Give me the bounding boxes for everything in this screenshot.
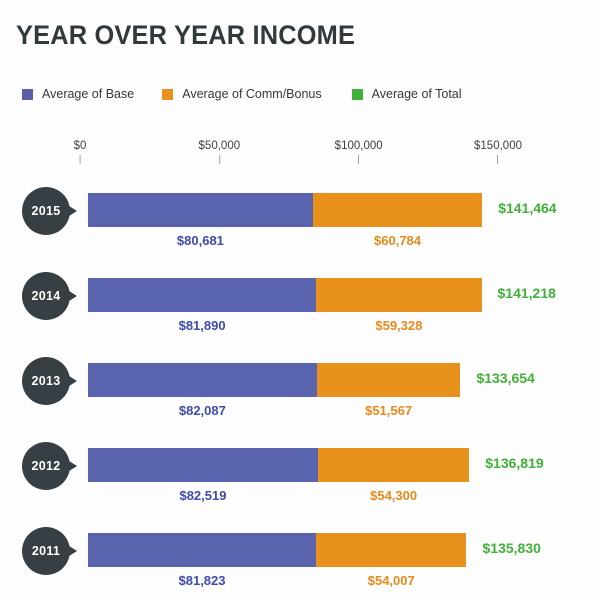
legend-item-comm-bonus[interactable]: Average of Comm/Bonus (162, 87, 321, 101)
year-badge[interactable]: 2012 (22, 442, 70, 490)
bar-segment-comm-bonus[interactable] (316, 533, 466, 567)
bar-segment-comm-bonus[interactable] (317, 363, 461, 397)
year-badge[interactable]: 2015 (22, 187, 70, 235)
bar-segment-comm-bonus[interactable] (313, 193, 482, 227)
legend-item-base[interactable]: Average of Base (22, 87, 134, 101)
chart-root: YEAR OVER YEAR INCOME Average of Base Av… (0, 0, 600, 600)
bar-value-total: $136,819 (485, 455, 543, 471)
year-label: 2013 (31, 374, 60, 388)
bar-track (88, 533, 467, 567)
bar-value-base: $82,087 (179, 403, 226, 418)
axis-tick-label: $50,000 (199, 140, 241, 152)
bar-value-comm-bonus: $54,007 (368, 573, 415, 588)
legend-label-comm-bonus: Average of Comm/Bonus (182, 87, 321, 101)
year-badge[interactable]: 2013 (22, 357, 70, 405)
year-label: 2012 (31, 459, 60, 473)
bar-segment-base[interactable] (88, 533, 316, 567)
axis-tick-mark (79, 155, 80, 164)
axis-tick-label: $150,000 (474, 140, 522, 152)
bar-value-comm-bonus: $51,567 (365, 403, 412, 418)
axis-tick-label: $0 (74, 140, 87, 152)
chart-row: 2015$80,681$60,784$141,464 (0, 183, 600, 255)
axis-tick: $0 (74, 140, 87, 164)
legend-label-total: Average of Total (372, 87, 462, 101)
bar-segment-comm-bonus[interactable] (316, 278, 481, 312)
chart-row: 2013$82,087$51,567$133,654 (0, 353, 600, 425)
axis-tick-mark (358, 155, 359, 164)
bar-track (88, 193, 482, 227)
legend-swatch-base-icon (22, 89, 33, 100)
bar-value-base: $81,823 (179, 573, 226, 588)
bar-segment-base[interactable] (88, 193, 313, 227)
bar-value-total: $141,464 (498, 200, 556, 216)
axis-tick-mark (498, 155, 499, 164)
chart-row: 2012$82,519$54,300$136,819 (0, 438, 600, 510)
chart-row: 2011$81,823$54,007$135,830 (0, 523, 600, 595)
chart-title: YEAR OVER YEAR INCOME (16, 20, 355, 51)
bar-segment-base[interactable] (88, 363, 317, 397)
bar-track (88, 363, 460, 397)
bar-value-comm-bonus: $54,300 (370, 488, 417, 503)
bar-track (88, 278, 482, 312)
axis-tick: $100,000 (335, 140, 383, 164)
year-badge[interactable]: 2014 (22, 272, 70, 320)
x-axis: $0$50,000$100,000$150,000 (0, 140, 600, 170)
bar-value-comm-bonus: $60,784 (374, 233, 421, 248)
axis-tick-mark (219, 155, 220, 164)
bar-track (88, 448, 469, 482)
bar-value-total: $133,654 (476, 370, 534, 386)
bar-value-comm-bonus: $59,328 (375, 318, 422, 333)
chart-legend: Average of Base Average of Comm/Bonus Av… (22, 86, 462, 102)
legend-swatch-comm-bonus-icon (162, 89, 173, 100)
axis-tick-label: $100,000 (335, 140, 383, 152)
year-label: 2014 (31, 289, 60, 303)
bar-value-total: $135,830 (483, 540, 541, 556)
legend-item-total[interactable]: Average of Total (352, 87, 462, 101)
axis-tick: $150,000 (474, 140, 522, 164)
bar-segment-comm-bonus[interactable] (318, 448, 469, 482)
legend-label-base: Average of Base (42, 87, 134, 101)
year-badge[interactable]: 2011 (22, 527, 70, 575)
bar-segment-base[interactable] (88, 448, 318, 482)
bar-value-total: $141,218 (498, 285, 556, 301)
year-label: 2011 (32, 544, 60, 558)
axis-tick: $50,000 (199, 140, 241, 164)
bar-value-base: $82,519 (179, 488, 226, 503)
bar-value-base: $81,890 (179, 318, 226, 333)
legend-swatch-total-icon (352, 89, 363, 100)
chart-row: 2014$81,890$59,328$141,218 (0, 268, 600, 340)
bar-segment-base[interactable] (88, 278, 316, 312)
bar-value-base: $80,681 (177, 233, 224, 248)
year-label: 2015 (31, 204, 60, 218)
